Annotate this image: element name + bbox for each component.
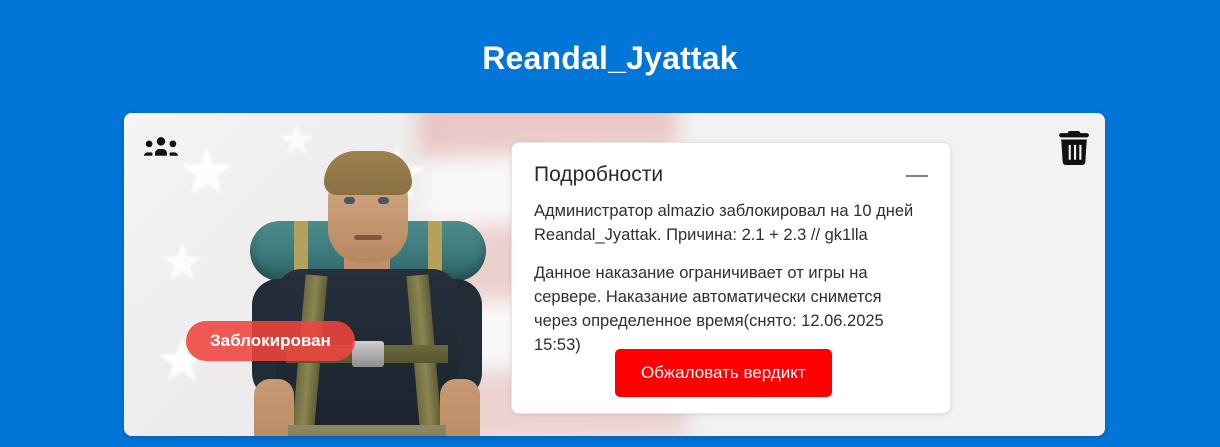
page-root: Reandal_Jyattak — [0, 0, 1220, 447]
trash-icon[interactable] — [1059, 131, 1089, 165]
avatar-pants — [288, 425, 446, 436]
avatar-hair — [324, 151, 412, 195]
profile-card: Заблокирован Подробности Администратор a… — [124, 113, 1105, 436]
avatar-eye-left — [344, 197, 355, 204]
avatar-buckle — [352, 341, 384, 367]
status-badge: Заблокирован — [186, 321, 355, 361]
avatar-eye-right — [378, 197, 389, 204]
details-title: Подробности — [534, 163, 663, 186]
avatar-mouth — [354, 235, 382, 240]
details-panel: Подробности Администратор almazio заблок… — [511, 142, 951, 414]
appeal-verdict-button[interactable]: Обжаловать вердикт — [615, 349, 832, 397]
avatar-arm-right — [440, 379, 480, 436]
avatar-character — [242, 129, 492, 436]
details-paragraph-reason: Администратор almazio заблокировал на 10… — [534, 199, 928, 247]
minus-icon[interactable] — [906, 175, 928, 177]
page-title: Reandal_Jyattak — [0, 36, 1220, 80]
users-group-icon[interactable] — [144, 132, 178, 166]
details-body: Администратор almazio заблокировал на 10… — [534, 199, 928, 357]
details-header: Подробности — [534, 161, 928, 191]
details-paragraph-info: Данное наказание ограничивает от игры на… — [534, 261, 928, 357]
